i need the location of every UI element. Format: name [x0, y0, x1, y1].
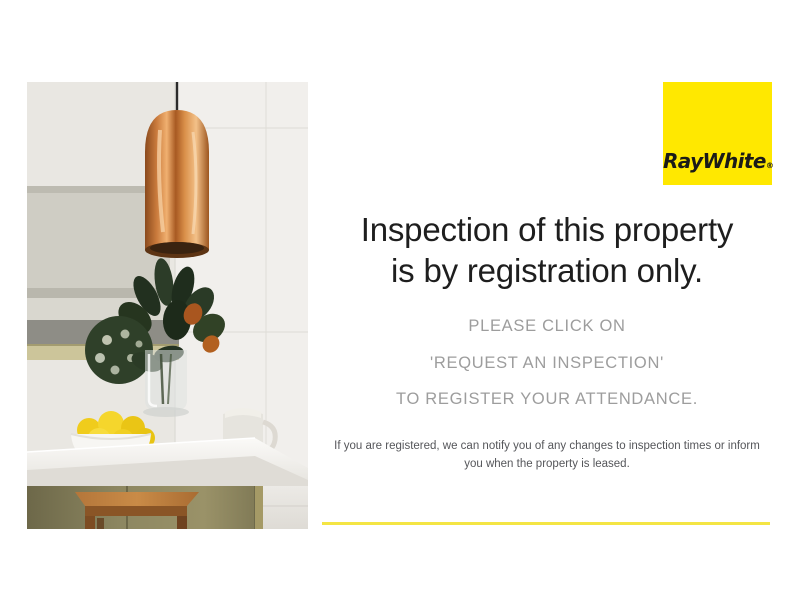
property-photo — [27, 82, 308, 529]
brand-name: RayWhite — [663, 149, 766, 173]
content-panel: RayWhite® Inspection of this property is… — [322, 70, 772, 530]
raywhite-logo: RayWhite® — [663, 82, 772, 185]
page-title-line-1: Inspection of this property — [322, 210, 772, 251]
trademark-symbol: ® — [766, 161, 774, 170]
slide-canvas: RayWhite® Inspection of this property is… — [0, 0, 800, 600]
instruction-line-1: PLEASE CLICK ON — [322, 318, 772, 335]
page-title: Inspection of this property is by regist… — [322, 210, 772, 292]
instruction-line-3: TO REGISTER YOUR ATTENDANCE. — [322, 391, 772, 408]
raywhite-logo-text: RayWhite® — [663, 151, 772, 171]
page-title-line-2: is by registration only. — [322, 251, 772, 292]
property-photo-illustration — [27, 82, 308, 529]
yellow-divider — [322, 522, 770, 525]
fineprint-note: If you are registered, we can notify you… — [324, 438, 770, 474]
instructions-block: PLEASE CLICK ON 'REQUEST AN INSPECTION' … — [322, 318, 772, 408]
instruction-line-2: 'REQUEST AN INSPECTION' — [322, 355, 772, 372]
